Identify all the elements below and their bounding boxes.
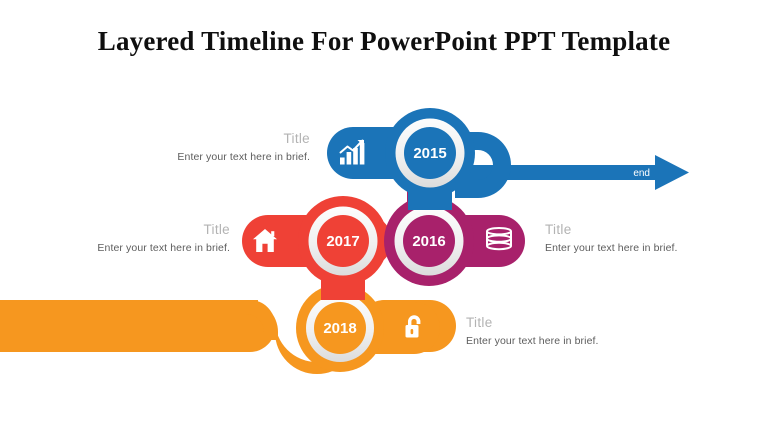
step-title-2015: Title [150,131,310,148]
year-label-2017: 2017 [326,233,359,250]
step-2018-group[interactable]: 2018 [0,284,456,374]
step-description-2018: Enter your text here in brief. [466,335,666,348]
arrow-end-label: end [633,168,650,179]
year-label-2015: 2015 [413,145,446,162]
step-description-2016: Enter your text here in brief. [545,242,735,255]
year-label-2016: 2016 [412,233,445,250]
step-title-2017: Title [65,222,230,239]
step-title-2018: Title [466,315,666,332]
step-2016-group[interactable]: 2016 [384,180,525,286]
arrow-head-icon [655,155,689,190]
step-description-2015: Enter your text here in brief. [150,151,310,164]
blue-stub-down [408,186,452,210]
step-text-2017: Title Enter your text here in brief. [65,222,230,255]
step-description-2017: Enter your text here in brief. [65,242,230,255]
blue-shaft [455,165,660,180]
step-text-2016: Title Enter your text here in brief. [545,222,735,255]
orange-band-left [0,300,258,314]
step-text-2015: Title Enter your text here in brief. [150,131,310,164]
red-stub-down [321,275,365,300]
step-title-2016: Title [545,222,735,239]
step-2017-group[interactable]: 2017 [242,196,392,300]
slide-canvas: Layered Timeline For PowerPoint PPT Temp… [0,0,768,432]
year-label-2018: 2018 [323,320,356,337]
step-2015-group[interactable]: end 2015 [327,108,689,210]
step-text-2018: Title Enter your text here in brief. [466,315,666,348]
layered-timeline-diagram: 2018 2017 [0,0,768,432]
